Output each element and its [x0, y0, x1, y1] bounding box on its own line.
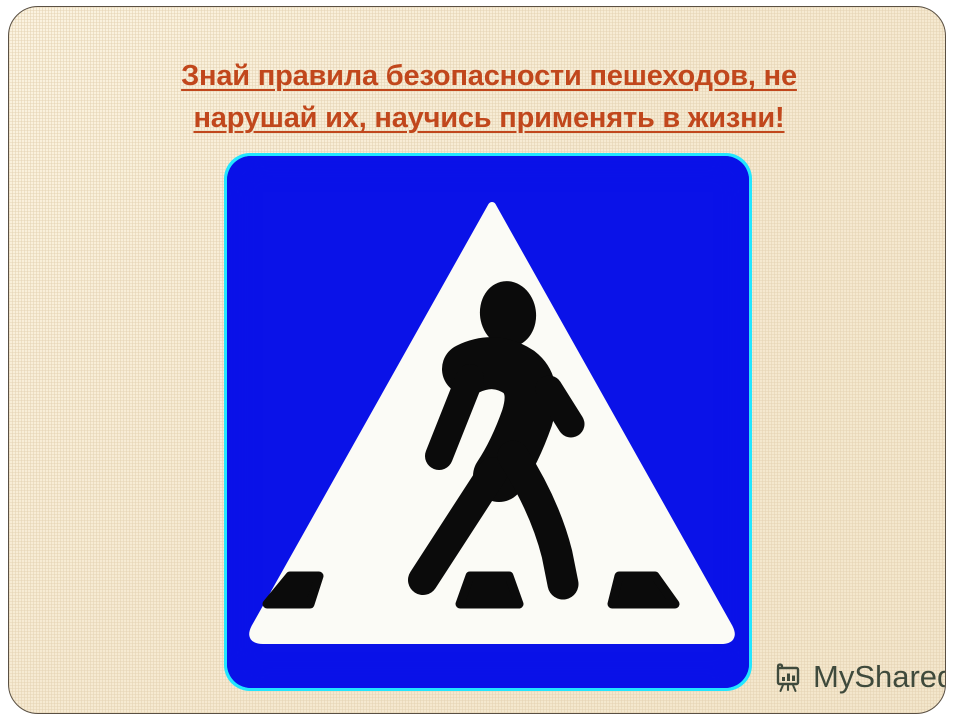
- page-title: Знай правила безопасности пешеходов, не …: [129, 55, 849, 139]
- pedestrian-crossing-sign-image: [224, 153, 752, 691]
- crosswalk-stripe-center: [460, 576, 519, 604]
- myshared-watermark: MyShared: [771, 659, 946, 695]
- slide-canvas: Знай правила безопасности пешеходов, не …: [8, 6, 946, 714]
- myshared-label: MyShared: [813, 659, 946, 695]
- page-title-line-1: Знай правила безопасности пешеходов, не: [181, 60, 797, 92]
- page-title-line-2: нарушай их, научись применять в жизни!: [193, 102, 784, 134]
- presentation-board-icon: [771, 660, 805, 694]
- sign-blue-plate: [227, 156, 749, 688]
- sign-pictogram: [227, 156, 749, 688]
- crosswalk-stripe-left: [267, 576, 319, 604]
- pedestrian-forward-arm: [549, 389, 571, 424]
